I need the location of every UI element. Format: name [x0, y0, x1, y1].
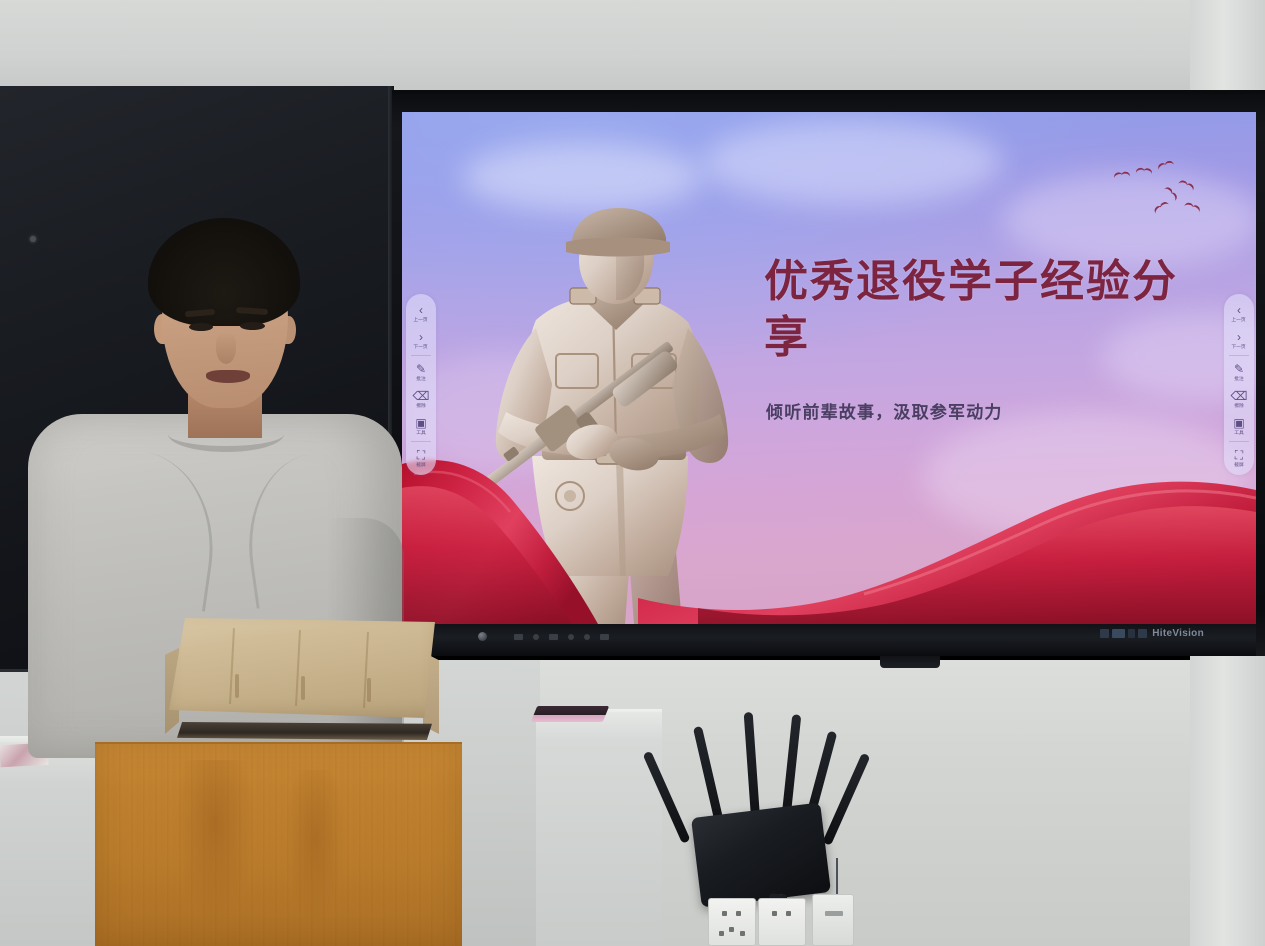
- wooden-lectern: [95, 742, 462, 946]
- eye: [240, 322, 265, 330]
- eraser-icon: ⌫: [1231, 389, 1248, 402]
- power-button[interactable]: [514, 634, 523, 640]
- display-mount: [880, 656, 940, 668]
- wall-power-outlet: [812, 894, 854, 946]
- classroom-scene: 优秀退役学子经验分享 倾听前辈故事，汲取参军动力 ‹ 上一页 › 下一页 ✎ 批…: [0, 0, 1265, 946]
- volume-down-button[interactable]: [568, 634, 574, 640]
- display-brand: HiteVision: [1100, 628, 1204, 639]
- organizer-slot: [235, 674, 239, 698]
- classroom-wall-top: [0, 0, 1265, 92]
- red-ribbon-decoration: [402, 112, 1256, 624]
- display-bottom-bezel: HiteVision: [402, 624, 1256, 656]
- tool-next-page[interactable]: › 下一页: [1224, 326, 1254, 353]
- desk-item-bar: [531, 706, 609, 722]
- menu-button[interactable]: [533, 634, 539, 640]
- slide-subtitle: 倾听前辈故事，汲取参军动力: [766, 398, 1196, 423]
- tool-label: 擦除: [1234, 403, 1244, 409]
- mouth: [206, 370, 250, 383]
- display-screen[interactable]: 优秀退役学子经验分享 倾听前辈故事，汲取参军动力 ‹ 上一页 › 下一页 ✎ 批…: [402, 112, 1256, 624]
- brand-name: HiteVision: [1152, 628, 1204, 639]
- tool-annotate[interactable]: ✎ 批注: [1224, 358, 1254, 385]
- antenna: [822, 753, 870, 846]
- wood-grain: [170, 760, 260, 940]
- toolbox-icon: ▣: [1233, 416, 1244, 429]
- eye: [189, 323, 213, 331]
- wood-grain: [280, 770, 350, 940]
- organizer-slot: [301, 676, 305, 700]
- tool-label: 下一页: [1232, 344, 1246, 350]
- nose: [216, 332, 236, 364]
- display-bezel-controls[interactable]: [514, 634, 609, 640]
- divider: [1229, 355, 1249, 356]
- wall-power-outlet: [758, 898, 806, 946]
- wall-power-outlet: [708, 898, 756, 946]
- organizer-slot: [367, 678, 371, 702]
- chevron-left-icon: ‹: [1237, 303, 1241, 316]
- volume-up-button[interactable]: [584, 634, 590, 640]
- tool-label: 工具: [1234, 430, 1244, 436]
- home-button[interactable]: [600, 634, 609, 640]
- pen-icon: ✎: [1234, 362, 1244, 375]
- organizer-base: [177, 722, 432, 740]
- tool-screenshot[interactable]: ⛶ 截屏: [1224, 444, 1254, 471]
- tool-prev-page[interactable]: ‹ 上一页: [1224, 299, 1254, 326]
- slide-title: 优秀退役学子经验分享: [764, 254, 1194, 367]
- brand-marks-icon: [1100, 629, 1147, 638]
- shirt-collar: [168, 416, 284, 452]
- tool-label: 批注: [1234, 376, 1244, 382]
- source-button[interactable]: [549, 634, 558, 640]
- divider: [1229, 441, 1249, 442]
- presenter-hair: [148, 218, 300, 326]
- screenshot-icon: ⛶: [1235, 448, 1243, 461]
- wooden-desk-organizer: [157, 618, 447, 746]
- tool-erase[interactable]: ⌫ 擦除: [1224, 385, 1254, 412]
- annotation-toolbar-right[interactable]: ‹ 上一页 › 下一页 ✎ 批注 ⌫ 擦除 ▣ 工具 ⛶: [1224, 294, 1254, 475]
- organizer-top: [169, 618, 435, 718]
- ir-sensor-icon: [478, 632, 487, 641]
- chevron-right-icon: ›: [1237, 330, 1241, 343]
- tool-label: 截屏: [1234, 462, 1244, 468]
- tool-toolbox[interactable]: ▣ 工具: [1224, 412, 1254, 439]
- tool-label: 上一页: [1232, 317, 1246, 323]
- counter: [536, 712, 662, 946]
- wifi-router: [676, 706, 866, 906]
